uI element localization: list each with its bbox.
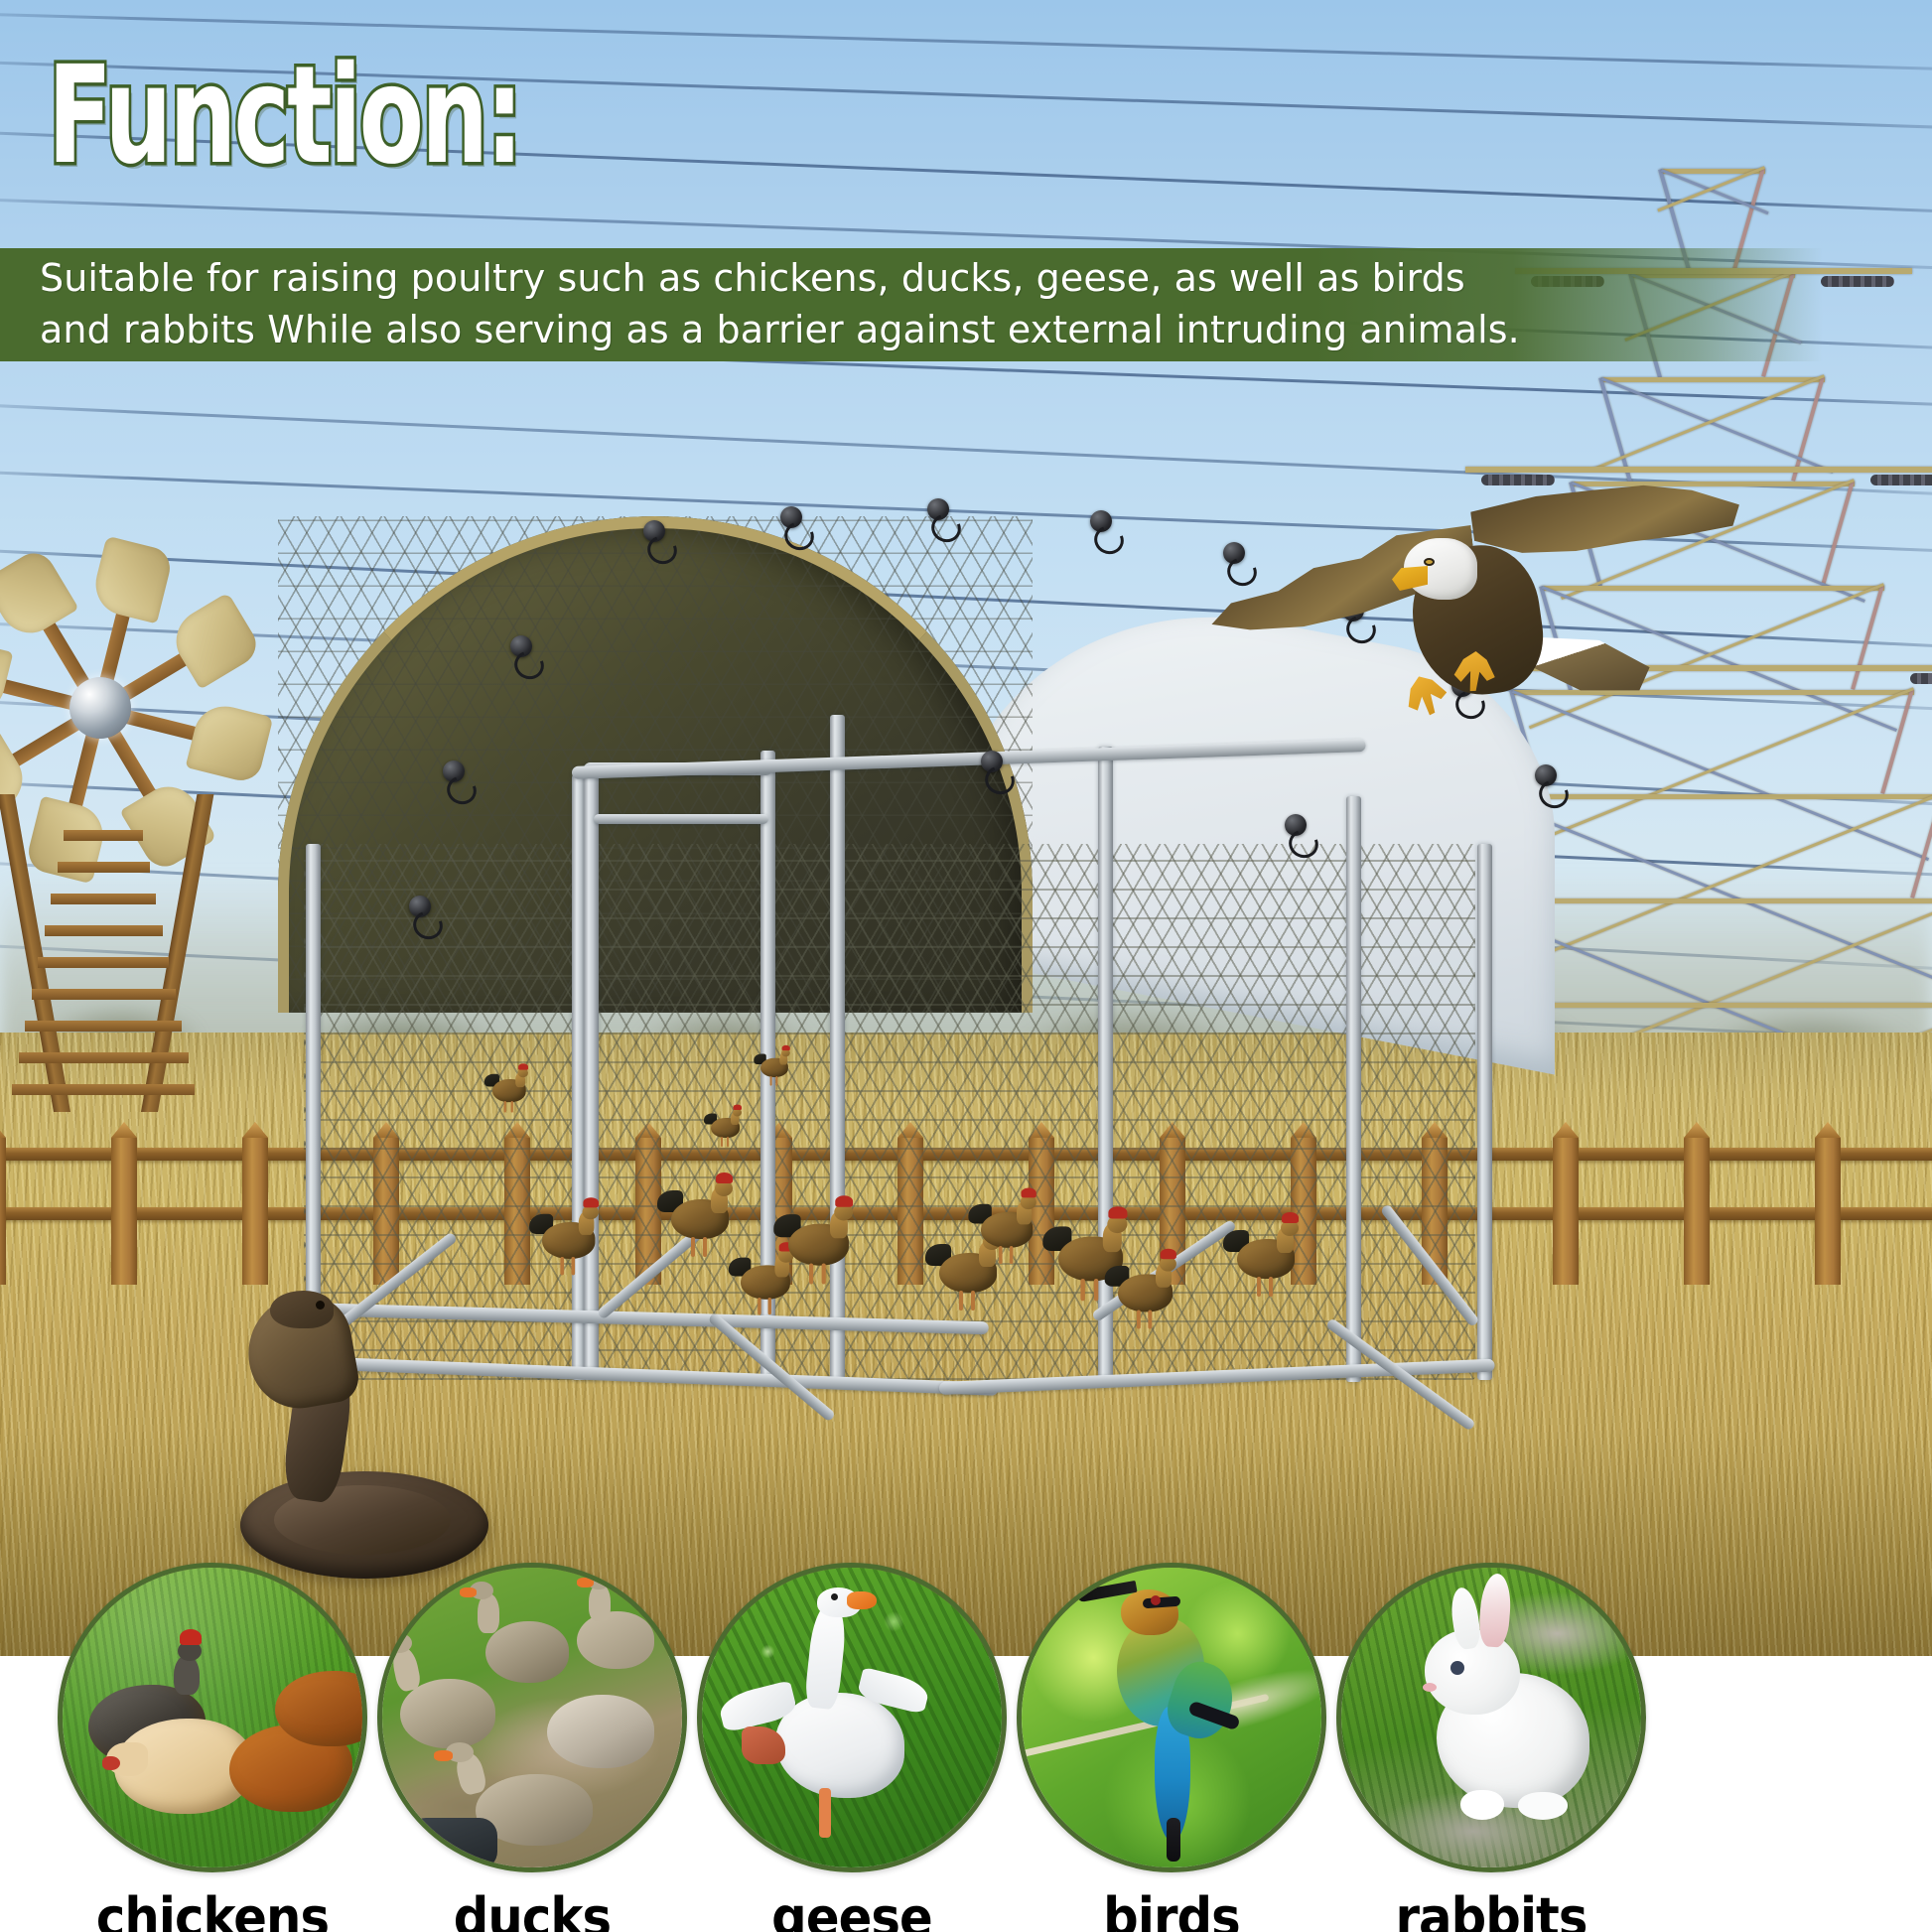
duck-5-bill — [434, 1750, 453, 1761]
windmill-rung — [64, 830, 143, 841]
fence-post — [1815, 1136, 1841, 1285]
thumb-ducks[interactable]: ducks — [377, 1563, 687, 1932]
coop-post — [1477, 844, 1492, 1380]
cover-clip — [1285, 814, 1307, 836]
cobra-snake — [205, 1291, 522, 1588]
coop-door-rail — [594, 814, 768, 824]
pylon-insulator — [1870, 475, 1932, 485]
eagle-eye — [1424, 558, 1435, 566]
thumb-chickens[interactable]: chickens — [58, 1563, 367, 1932]
duck-3-body — [547, 1695, 654, 1768]
chicken-leg — [727, 1137, 729, 1147]
chicken-leg — [822, 1264, 826, 1285]
chicken-comb — [734, 1105, 743, 1111]
page-title: Function: — [48, 48, 520, 186]
cobra-head — [270, 1291, 334, 1328]
fence-post — [0, 1136, 6, 1285]
thumb-geese-label: geese — [709, 1886, 994, 1932]
chicken-leg — [571, 1257, 575, 1275]
duck-1-bill — [377, 1639, 394, 1650]
rabbit-paw-rear — [1518, 1792, 1568, 1820]
thumb-rabbits-image — [1336, 1563, 1646, 1872]
chicken-leg — [511, 1101, 513, 1113]
cover-clip — [643, 520, 665, 542]
duck-4-body — [577, 1611, 654, 1669]
coop-post — [1098, 747, 1113, 1382]
goose-eye — [831, 1593, 838, 1600]
cover-clip — [409, 896, 431, 917]
chicken-leg — [758, 1298, 760, 1314]
chicken-leg — [721, 1137, 723, 1147]
windmill-hub — [69, 677, 131, 739]
rabbit-paw-front — [1460, 1790, 1504, 1820]
chicken-leg — [1137, 1311, 1141, 1329]
pylon-diagonal-right — [1821, 481, 1855, 586]
windmill-rung — [32, 989, 176, 1000]
rabbit-nose — [1423, 1683, 1437, 1692]
windmill-tower — [0, 794, 220, 1112]
chicken-leg — [504, 1101, 506, 1113]
coop-post — [830, 715, 845, 1380]
thumb-birds-label: birds — [1029, 1886, 1313, 1932]
chicken-comb — [716, 1173, 733, 1183]
banner-line-1: Suitable for raising poultry such as chi… — [40, 253, 1783, 305]
cover-clip — [927, 498, 949, 520]
chicken-leg — [1269, 1277, 1273, 1297]
pylon-diagonal-right — [1851, 585, 1884, 690]
hen-grey-comb — [180, 1629, 202, 1645]
windmill-leg-right — [141, 794, 213, 1112]
chicken-leg — [768, 1298, 771, 1314]
windmill-rung — [38, 957, 169, 968]
chicken-comb — [1282, 1212, 1299, 1223]
thumb-geese-image — [697, 1563, 1007, 1872]
bald-eagle — [1219, 427, 1775, 725]
cobra-eye — [316, 1301, 325, 1310]
pylon-diagonal-right — [1910, 793, 1932, 898]
feature-banner: Suitable for raising poultry such as chi… — [0, 248, 1823, 361]
coop-post — [1346, 796, 1361, 1382]
chicken-leg — [999, 1246, 1003, 1264]
pylon-brace-a — [1661, 169, 1769, 214]
chicken-leg — [1080, 1279, 1084, 1301]
thumb-birds[interactable]: birds — [1017, 1563, 1326, 1932]
windmill-rung — [19, 1052, 189, 1063]
duck-2-neck — [478, 1593, 499, 1633]
thumb-chickens-label: chickens — [69, 1886, 354, 1932]
rabbit-eye — [1450, 1661, 1464, 1675]
goose-bill — [847, 1591, 877, 1609]
cover-clip — [510, 635, 532, 657]
hen-grey-neck — [174, 1655, 200, 1695]
cover-clip — [1535, 764, 1557, 786]
chicken-comb — [1108, 1206, 1127, 1218]
windmill-rung — [58, 862, 150, 873]
fence-post — [1553, 1136, 1579, 1285]
pylon-diagonal-right — [1880, 689, 1914, 794]
chicken-leg — [1094, 1279, 1098, 1301]
pylon-insulator — [1821, 276, 1894, 287]
windmill-rung — [12, 1084, 195, 1095]
chicken-comb — [583, 1197, 599, 1207]
duck-2-body — [485, 1621, 569, 1683]
thumb-ducks-label: ducks — [389, 1886, 674, 1932]
chicken-leg — [703, 1237, 707, 1257]
windmill-rung — [45, 925, 163, 936]
chicken-leg — [971, 1291, 975, 1311]
thumb-geese[interactable]: geese — [697, 1563, 1007, 1932]
bird-tail-tip — [1167, 1818, 1180, 1862]
fence-post — [111, 1136, 137, 1285]
chicken-leg — [1257, 1277, 1261, 1297]
hen-cream-beak — [102, 1756, 120, 1770]
chicken-leg — [1148, 1311, 1152, 1329]
cover-clip — [1090, 510, 1112, 532]
cover-clip — [443, 760, 465, 782]
goose-leg — [819, 1788, 831, 1838]
chicken-leg — [691, 1237, 695, 1257]
chicken-comb — [1161, 1249, 1176, 1259]
fence-post — [1684, 1136, 1710, 1285]
chicken-comb — [518, 1063, 528, 1069]
duck-4-bill — [577, 1578, 594, 1587]
windmill-leg-left — [0, 794, 70, 1112]
feed-trough — [408, 1818, 497, 1869]
windmill-rung — [51, 894, 156, 904]
chicken-comb — [782, 1045, 790, 1050]
chicken-comb — [1022, 1188, 1036, 1198]
cover-clip — [780, 506, 802, 528]
pylon-crossbar — [1602, 377, 1825, 382]
chicken-leg — [959, 1291, 963, 1311]
thumb-ducks-image — [377, 1563, 687, 1872]
windmill-rung — [25, 1021, 182, 1032]
product-feature-poster: Function: Suitable for raising poultry s… — [0, 0, 1932, 1932]
thumb-rabbits[interactable]: rabbits — [1336, 1563, 1646, 1932]
cover-clip — [981, 751, 1003, 772]
thumb-rabbits-label: rabbits — [1348, 1886, 1633, 1932]
pylon-insulator — [1910, 673, 1932, 684]
chicken-leg — [809, 1264, 813, 1285]
coop-door-post-left — [584, 764, 599, 1380]
chicken-leg — [1010, 1246, 1014, 1264]
thumb-birds-image — [1017, 1563, 1326, 1872]
bird-eye — [1151, 1595, 1161, 1605]
chicken-comb — [835, 1195, 853, 1207]
chicken-leg — [560, 1257, 564, 1275]
thumb-chickens-image — [58, 1563, 367, 1872]
duck-2-bill — [460, 1587, 477, 1597]
chicken-leg — [775, 1076, 777, 1086]
chicken-leg — [770, 1076, 772, 1086]
banner-line-2: and rabbits While also serving as a barr… — [40, 305, 1783, 356]
